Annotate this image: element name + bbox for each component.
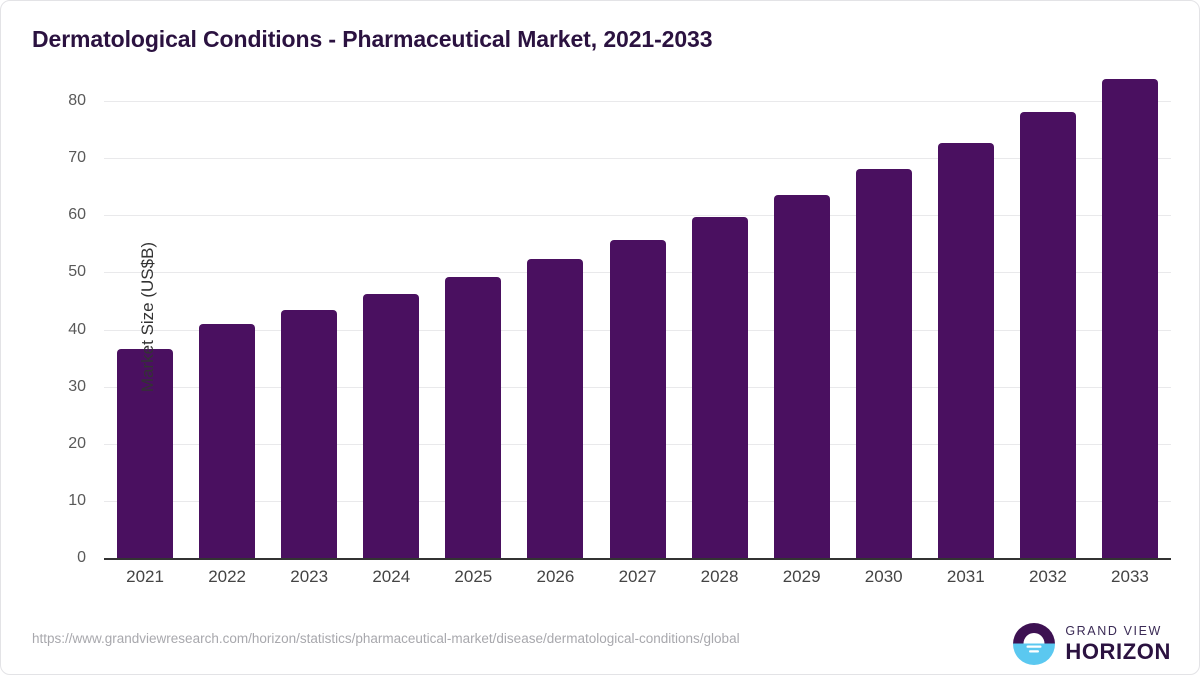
y-axis-tick-label: 0 bbox=[26, 549, 86, 567]
bar-2030[interactable] bbox=[856, 169, 912, 558]
plot-area: 01020304050607080 Market Size (US$B) bbox=[104, 101, 1171, 558]
bar-2024[interactable] bbox=[363, 294, 419, 558]
bar-2023[interactable] bbox=[281, 310, 337, 558]
x-axis-tick-label-2029: 2029 bbox=[783, 567, 821, 587]
chart-page: Dermatological Conditions - Pharmaceutic… bbox=[0, 0, 1200, 675]
y-axis-tick-label: 20 bbox=[26, 435, 86, 453]
y-axis-tick-label: 70 bbox=[26, 149, 86, 167]
bar-series bbox=[104, 101, 1171, 558]
bar-2022[interactable] bbox=[199, 324, 255, 558]
bar-2031[interactable] bbox=[938, 143, 994, 558]
logo-line-1: GRAND VIEW bbox=[1065, 625, 1171, 638]
logo-wordmark: GRAND VIEW HORIZON bbox=[1065, 625, 1171, 663]
x-axis-tick-label-2028: 2028 bbox=[701, 567, 739, 587]
y-axis-tick-label: 10 bbox=[26, 492, 86, 510]
bar-2032[interactable] bbox=[1020, 112, 1076, 558]
x-axis-line bbox=[104, 558, 1171, 560]
bar-2027[interactable] bbox=[610, 240, 666, 558]
x-axis-tick-label-2030: 2030 bbox=[865, 567, 903, 587]
y-axis-tick-label: 40 bbox=[26, 321, 86, 339]
page-title: Dermatological Conditions - Pharmaceutic… bbox=[32, 26, 712, 53]
x-axis-tick-label-2027: 2027 bbox=[619, 567, 657, 587]
x-axis-tick-label-2025: 2025 bbox=[454, 567, 492, 587]
source-url[interactable]: https://www.grandviewresearch.com/horizo… bbox=[32, 631, 740, 646]
x-axis-tick-label-2021: 2021 bbox=[126, 567, 164, 587]
y-axis-tick-label: 30 bbox=[26, 378, 86, 396]
bar-2026[interactable] bbox=[527, 259, 583, 558]
x-axis-tick-label-2033: 2033 bbox=[1111, 567, 1149, 587]
grand-view-horizon-logo: GRAND VIEW HORIZON bbox=[1012, 621, 1171, 667]
x-axis-tick-label-2024: 2024 bbox=[372, 567, 410, 587]
x-axis-tick-label-2032: 2032 bbox=[1029, 567, 1067, 587]
x-axis-tick-label-2022: 2022 bbox=[208, 567, 246, 587]
bar-2029[interactable] bbox=[774, 195, 830, 558]
x-axis-tick-labels: 2021202220232024202520262027202820292030… bbox=[104, 567, 1171, 593]
y-axis-tick-label: 50 bbox=[26, 263, 86, 281]
y-axis-tick-label: 80 bbox=[26, 92, 86, 110]
sunrise-circle-icon bbox=[1012, 622, 1056, 666]
y-axis-title: Market Size (US$B) bbox=[138, 157, 158, 477]
x-axis-tick-label-2023: 2023 bbox=[290, 567, 328, 587]
x-axis-tick-label-2031: 2031 bbox=[947, 567, 985, 587]
bar-2025[interactable] bbox=[445, 277, 501, 558]
bar-2028[interactable] bbox=[692, 217, 748, 558]
y-axis-tick-label: 60 bbox=[26, 206, 86, 224]
x-axis-tick-label-2026: 2026 bbox=[537, 567, 575, 587]
logo-line-2: HORIZON bbox=[1065, 641, 1171, 663]
bar-2033[interactable] bbox=[1102, 79, 1158, 558]
